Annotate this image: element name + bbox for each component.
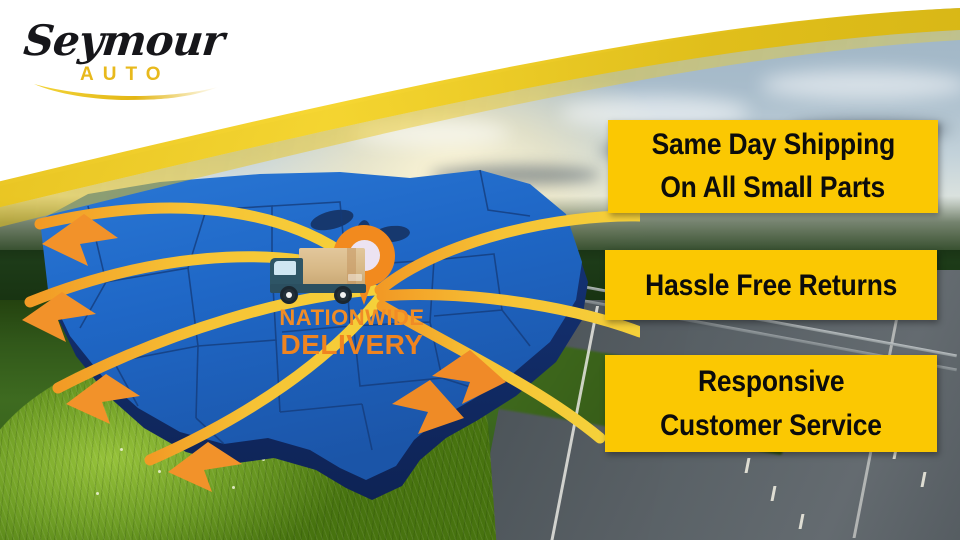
panel-line: Hassle Free Returns xyxy=(645,269,897,302)
panel-line: Responsive xyxy=(698,360,844,404)
feature-panel-hassle-free-returns: Hassle Free Returns xyxy=(605,250,937,320)
logo-swoosh-icon xyxy=(32,84,220,100)
nationwide-delivery-text: NATIONWIDE DELIVERY xyxy=(257,307,447,360)
brand-name: Seymour xyxy=(21,16,226,65)
panel-line: Same Day Shipping xyxy=(651,124,894,167)
panel-line: Customer Service xyxy=(660,404,882,448)
feature-panel-same-day-shipping: Same Day Shipping On All Small Parts xyxy=(608,120,938,213)
cardboard-box-icon xyxy=(299,248,365,286)
promo-banner: NATIONWIDE DELIVERY Seymour AUTO Same Da… xyxy=(0,0,960,540)
feature-panel-responsive-customer-service: Responsive Customer Service xyxy=(605,355,937,452)
brand-subtitle: AUTO xyxy=(80,64,169,86)
nationwide-label: NATIONWIDE xyxy=(257,307,447,329)
cloud xyxy=(760,70,960,100)
delivery-truck-icon xyxy=(270,248,366,306)
brand-logo[interactable]: Seymour AUTO xyxy=(18,14,233,100)
panel-line: On All Small Parts xyxy=(661,167,886,210)
delivery-label: DELIVERY xyxy=(257,329,447,360)
